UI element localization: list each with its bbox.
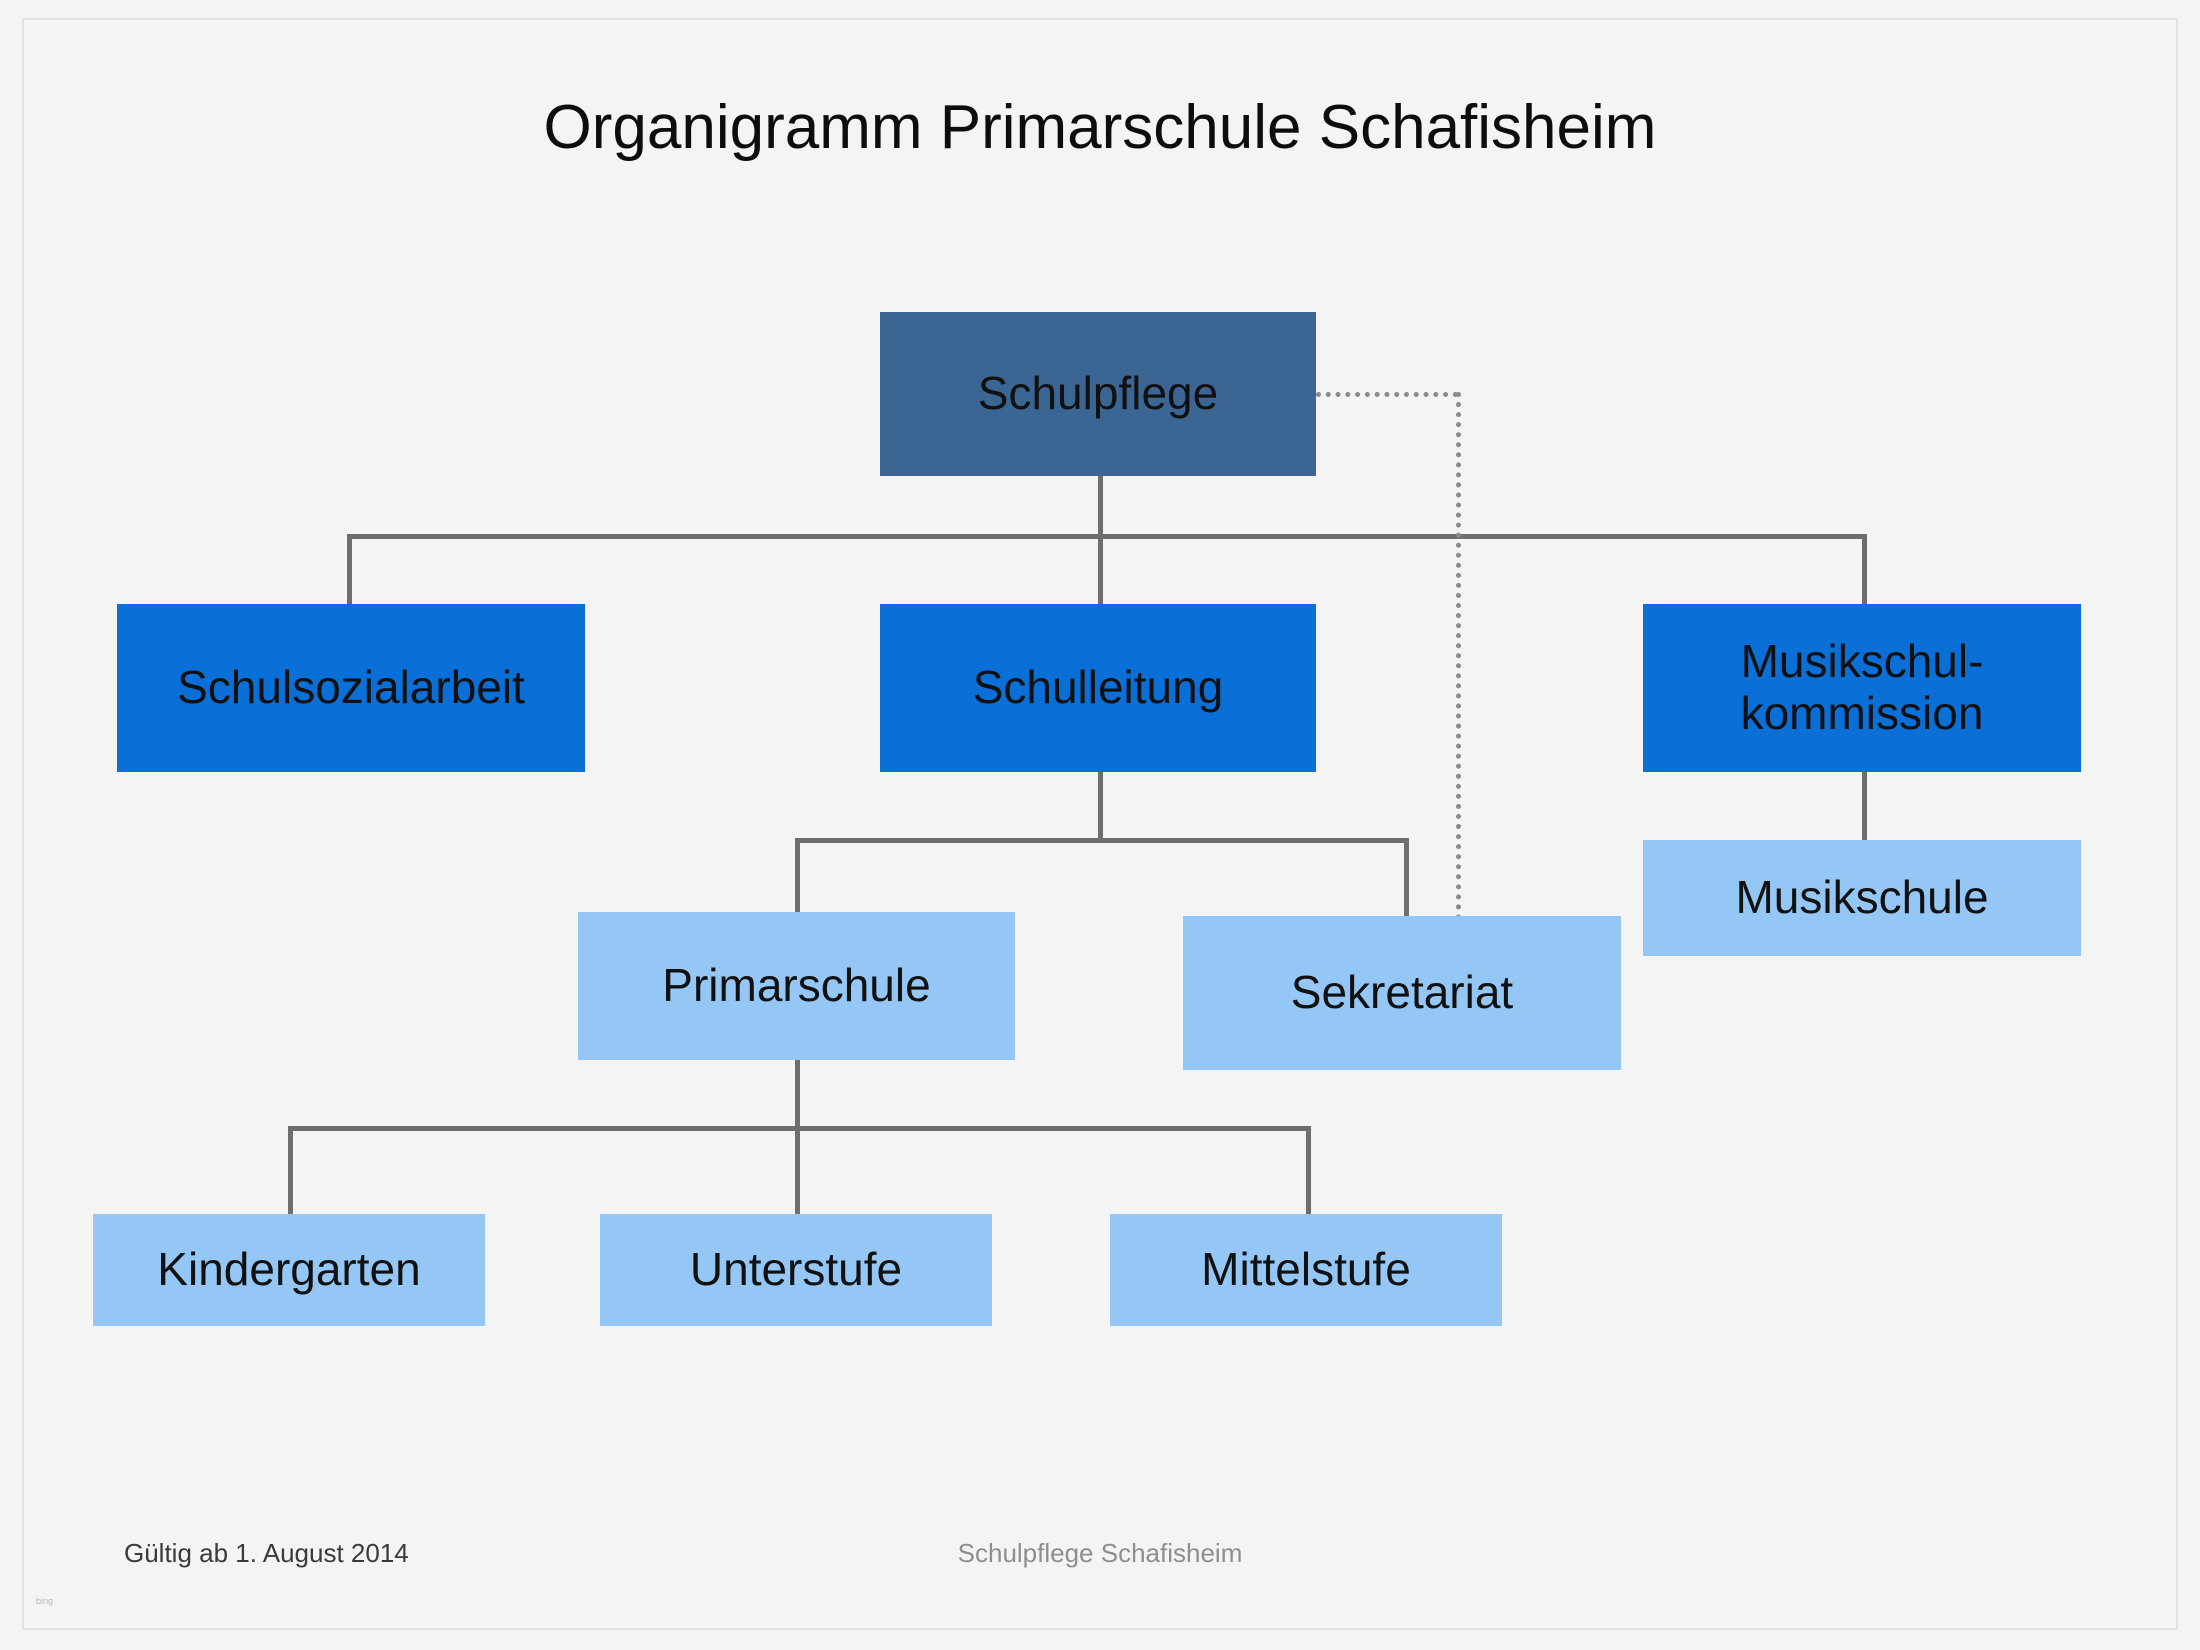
- node-label-mittelstufe: Mittelstufe: [1201, 1244, 1411, 1296]
- page-title: Organigramm Primarschule Schafisheim: [0, 92, 2200, 163]
- connector-to-unterstufe: [795, 1126, 800, 1214]
- node-schulleitung[interactable]: Schulleitung: [880, 604, 1316, 772]
- node-label-schulpflege: Schulpflege: [978, 368, 1218, 420]
- node-primarschule[interactable]: Primarschule: [578, 912, 1015, 1060]
- connector-level2-bus: [795, 838, 1409, 843]
- connector-to-kindergarten: [288, 1126, 293, 1214]
- node-musikschulkommission[interactable]: Musikschul- kommission: [1643, 604, 2081, 772]
- dotted-connector-horizontal: [1316, 392, 1458, 397]
- connector-to-schulsozialarbeit: [347, 534, 352, 604]
- node-musikschule[interactable]: Musikschule: [1643, 840, 2081, 956]
- node-mittelstufe[interactable]: Mittelstufe: [1110, 1214, 1502, 1326]
- connector-primarschule-stub: [795, 1060, 800, 1128]
- connector-to-mittelstufe: [1306, 1126, 1311, 1214]
- connector-schulleitung-stub: [1098, 772, 1103, 840]
- connector-to-musikschule: [1862, 772, 1867, 840]
- connector-to-musikschulkommission: [1862, 534, 1867, 604]
- node-label-sekretariat: Sekretariat: [1291, 967, 1513, 1019]
- dotted-connector-vertical: [1456, 392, 1461, 920]
- node-schulsozialarbeit[interactable]: Schulsozialarbeit: [117, 604, 585, 772]
- node-label-schulleitung: Schulleitung: [973, 662, 1224, 714]
- connector-schulpflege-stub: [1098, 476, 1103, 538]
- footer-organization-text: Schulpflege Schafisheim: [0, 1538, 2200, 1569]
- node-label-musikschule: Musikschule: [1735, 872, 1988, 924]
- footer-watermark: bing: [36, 1596, 53, 1606]
- node-label-musikschulkommission-line1: Musikschul-: [1741, 636, 1984, 688]
- node-label-primarschule: Primarschule: [662, 960, 930, 1012]
- connector-to-sekretariat: [1404, 838, 1409, 916]
- node-label-schulsozialarbeit: Schulsozialarbeit: [177, 662, 525, 714]
- node-label-musikschulkommission-line2: kommission: [1741, 688, 1984, 740]
- node-label-unterstufe: Unterstufe: [690, 1244, 902, 1296]
- connector-to-schulleitung: [1098, 534, 1103, 604]
- node-sekretariat[interactable]: Sekretariat: [1183, 916, 1621, 1070]
- connector-to-primarschule: [795, 838, 800, 912]
- org-chart-page: Organigramm Primarschule Schafisheim Sch…: [0, 0, 2200, 1650]
- connector-level1-bus: [347, 534, 1867, 539]
- node-unterstufe[interactable]: Unterstufe: [600, 1214, 992, 1326]
- node-kindergarten[interactable]: Kindergarten: [93, 1214, 485, 1326]
- node-schulpflege[interactable]: Schulpflege: [880, 312, 1316, 476]
- node-label-kindergarten: Kindergarten: [157, 1244, 420, 1296]
